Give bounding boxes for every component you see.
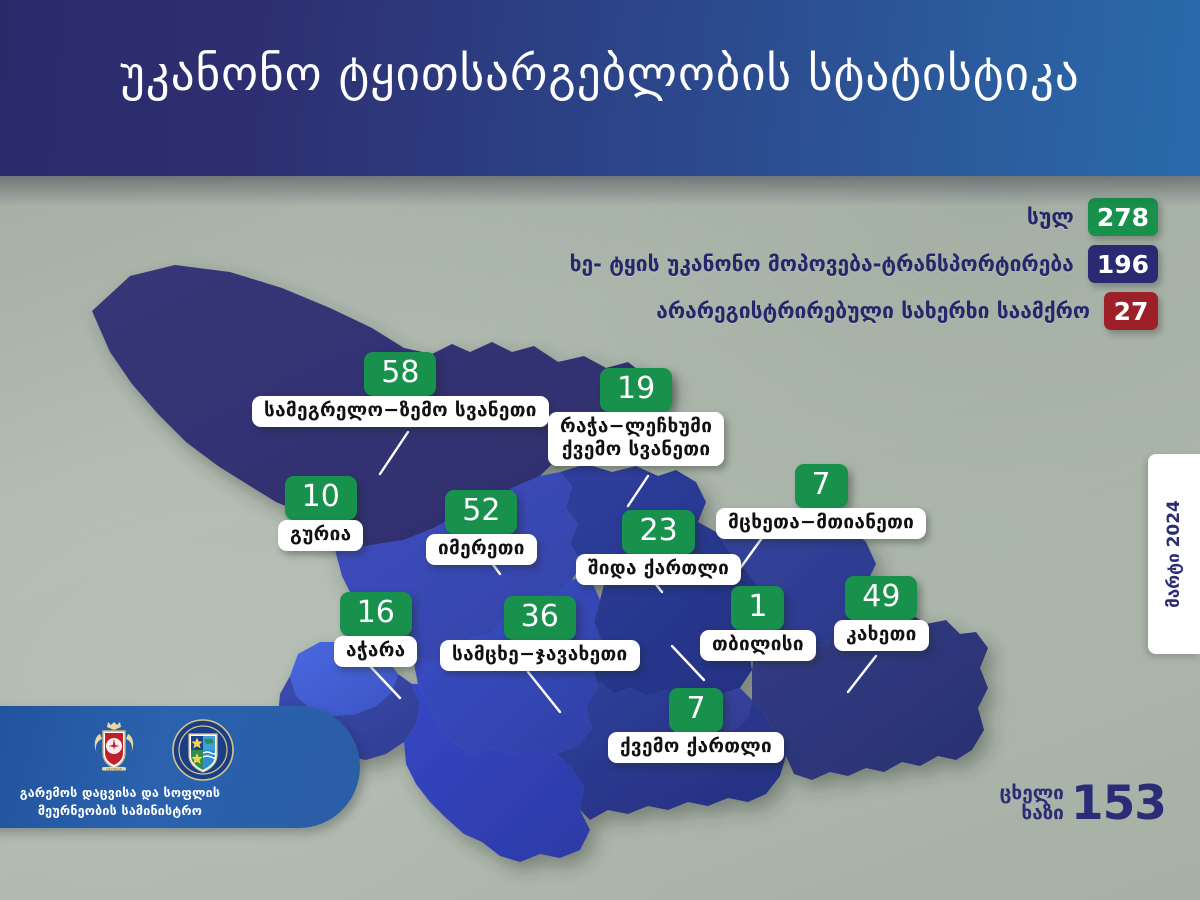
date-tab[interactable]: მარტი 2024 [1148,454,1200,654]
date-tab-label: მარტი 2024 [1164,500,1184,608]
marker-value-racha-lechkhumi-kvemo-svaneti: 19 [600,368,672,412]
marker-label-racha-lechkhumi-kvemo-svaneti: რაჭა−ლეჩხუმი ქვემო სვანეთი [548,412,724,466]
legend-label-illegal-logging: ხე- ტყის უკანონო მოპოვება-ტრანსპორტირება [570,252,1074,276]
marker-imereti[interactable]: 52 იმერეთი [426,490,537,565]
marker-value-guria: 10 [285,476,357,520]
ministry-name-line1: გარემოს დაცვისა და სოფლის [0,784,240,802]
ministry-seal-icon [172,719,234,781]
header-banner: უკანონო ტყითსარგებლობის სტატისტიკა [0,0,1200,176]
leader-adjara [368,664,400,698]
hotline-label: ცხელი ხაზი [1000,784,1064,823]
page-title: უკანონო ტყითსარგებლობის სტატისტიკა [0,47,1200,102]
legend-label-unregistered-sawmill: არარეგისტრირებული სახერხი საამქრო [656,299,1090,323]
marker-tbilisi[interactable]: 1 თბილისი [700,586,816,661]
marker-label-guria: გურია [278,520,363,551]
marker-value-kakheti: 49 [845,576,917,620]
marker-value-imereti: 52 [445,490,517,534]
georgia-coat-of-arms-icon: GEORGIA [88,719,140,775]
ministry-name: გარემოს დაცვისა და სოფლის მეურნეობის სამ… [0,784,240,820]
marker-label-samegrelo-zemo-svaneti: სამეგრელო−ზემო სვანეთი [252,396,549,427]
legend-row-illegal-logging: ხე- ტყის უკანონო მოპოვება-ტრანსპორტირება… [570,245,1158,283]
marker-label-tbilisi: თბილისი [700,630,816,661]
leader-samtskhe [528,672,560,712]
ministry-banner: GEORGIA გარემოს დაცვისა და სოფლის მეურნე… [0,706,360,828]
marker-value-shida-kartli: 23 [622,510,694,554]
marker-samtskhe-javakheti[interactable]: 36 სამცხე−ჯავახეთი [440,596,640,671]
marker-label-imereti: იმერეთი [426,534,537,565]
hotline-word-hot: ცხელი [1000,784,1064,803]
hotline: ცხელი ხაზი 153 [1000,776,1166,831]
legend-value-total: 278 [1088,198,1158,236]
legend-value-illegal-logging: 196 [1088,245,1158,283]
marker-value-kvemo-kartli: 7 [669,688,722,732]
legend-value-unregistered-sawmill: 27 [1104,292,1158,330]
marker-label-kvemo-kartli: ქვემო ქართლი [608,732,784,763]
marker-label-shida-kartli: შიდა ქართლი [576,554,741,585]
legend: სულ 278 ხე- ტყის უკანონო მოპოვება-ტრანსპ… [570,198,1158,330]
marker-mtskheta-mtianeti[interactable]: 7 მცხეთა−მთიანეთი [716,464,926,539]
marker-value-mtskheta-mtianeti: 7 [795,464,848,508]
marker-kvemo-kartli[interactable]: 7 ქვემო ქართლი [608,688,784,763]
marker-label-mtskheta-mtianeti: მცხეთა−მთიანეთი [716,508,926,539]
leader-samegrelo [380,432,408,474]
marker-label-samtskhe-javakheti: სამცხე−ჯავახეთი [440,640,640,671]
hotline-word-line: ხაზი [1000,804,1064,823]
svg-text:GEORGIA: GEORGIA [106,767,122,771]
ministry-name-line2: მეურნეობის სამინისტრო [0,802,240,820]
marker-label-kakheti: კახეთი [834,620,929,651]
hotline-number: 153 [1071,776,1166,831]
marker-value-adjara: 16 [340,592,412,636]
marker-adjara[interactable]: 16 აჭარა [334,592,417,667]
legend-label-total: სულ [1027,205,1074,229]
marker-racha-lechkhumi-kvemo-svaneti[interactable]: 19 რაჭა−ლეჩხუმი ქვემო სვანეთი [548,368,724,466]
legend-row-unregistered-sawmill: არარეგისტრირებული სახერხი საამქრო 27 [656,292,1158,330]
marker-value-samtskhe-javakheti: 36 [504,596,576,640]
marker-guria[interactable]: 10 გურია [278,476,363,551]
marker-value-tbilisi: 1 [731,586,784,630]
marker-label-adjara: აჭარა [334,636,417,667]
legend-row-total: სულ 278 [1027,198,1158,236]
marker-value-samegrelo-zemo-svaneti: 58 [364,352,436,396]
leader-racha [628,476,648,506]
leader-kakheti [848,656,876,692]
marker-kakheti[interactable]: 49 კახეთი [834,576,929,651]
marker-samegrelo-zemo-svaneti[interactable]: 58 სამეგრელო−ზემო სვანეთი [252,352,549,427]
